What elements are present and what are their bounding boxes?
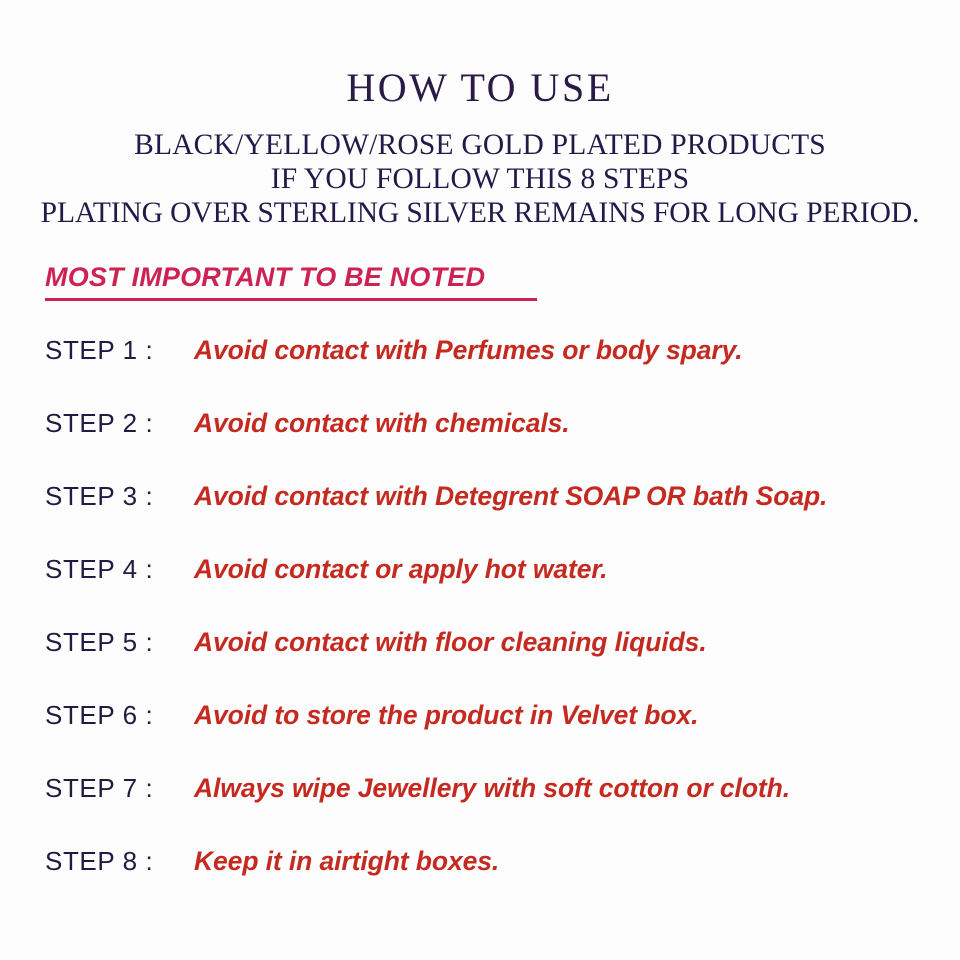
step-label-7: STEP 7 : [45, 773, 153, 803]
step-text-2: Avoid contact with chemicals. [194, 408, 570, 438]
step-label-1: STEP 1 : [45, 335, 153, 365]
step-text-3: Avoid contact with Detegrent SOAP OR bat… [194, 481, 827, 511]
step-row: STEP 4 : Avoid contact or apply hot wate… [0, 554, 960, 627]
how-to-use-card: HOW TO USE BLACK/YELLOW/ROSE GOLD PLATED… [0, 0, 960, 960]
step-text-7: Always wipe Jewellery with soft cotton o… [194, 773, 790, 803]
step-text-1: Avoid contact with Perfumes or body spar… [194, 335, 742, 365]
step-label-2: STEP 2 : [45, 408, 153, 438]
subtitle-line-2: IF YOU FOLLOW THIS 8 STEPS [0, 162, 960, 196]
step-text-8: Keep it in airtight boxes. [194, 846, 499, 876]
subtitle-line-3: PLATING OVER STERLING SILVER REMAINS FOR… [0, 196, 960, 230]
step-text-6: Avoid to store the product in Velvet box… [194, 700, 698, 730]
step-text-5: Avoid contact with floor cleaning liquid… [194, 627, 707, 657]
step-label-8: STEP 8 : [45, 846, 153, 876]
notice-heading: MOST IMPORTANT TO BE NOTED [45, 262, 485, 292]
header-block: HOW TO USE BLACK/YELLOW/ROSE GOLD PLATED… [0, 0, 960, 230]
step-text-4: Avoid contact or apply hot water. [194, 554, 607, 584]
subtitle-block: BLACK/YELLOW/ROSE GOLD PLATED PRODUCTS I… [0, 108, 960, 230]
step-label-4: STEP 4 : [45, 554, 153, 584]
steps-list: STEP 1 : Avoid contact with Perfumes or … [0, 335, 960, 919]
notice-underline [45, 298, 537, 301]
step-row: STEP 3 : Avoid contact with Detegrent SO… [0, 481, 960, 554]
step-row: STEP 2 : Avoid contact with chemicals. [0, 408, 960, 481]
step-label-3: STEP 3 : [45, 481, 153, 511]
page-title: HOW TO USE [0, 0, 960, 108]
most-important-notice: MOST IMPORTANT TO BE NOTED [45, 262, 537, 301]
step-row: STEP 6 : Avoid to store the product in V… [0, 700, 960, 773]
step-label-5: STEP 5 : [45, 627, 153, 657]
subtitle-line-1: BLACK/YELLOW/ROSE GOLD PLATED PRODUCTS [0, 128, 960, 162]
step-row: STEP 7 : Always wipe Jewellery with soft… [0, 773, 960, 846]
step-row: STEP 5 : Avoid contact with floor cleani… [0, 627, 960, 700]
step-label-6: STEP 6 : [45, 700, 153, 730]
step-row: STEP 8 : Keep it in airtight boxes. [0, 846, 960, 919]
step-row: STEP 1 : Avoid contact with Perfumes or … [0, 335, 960, 408]
